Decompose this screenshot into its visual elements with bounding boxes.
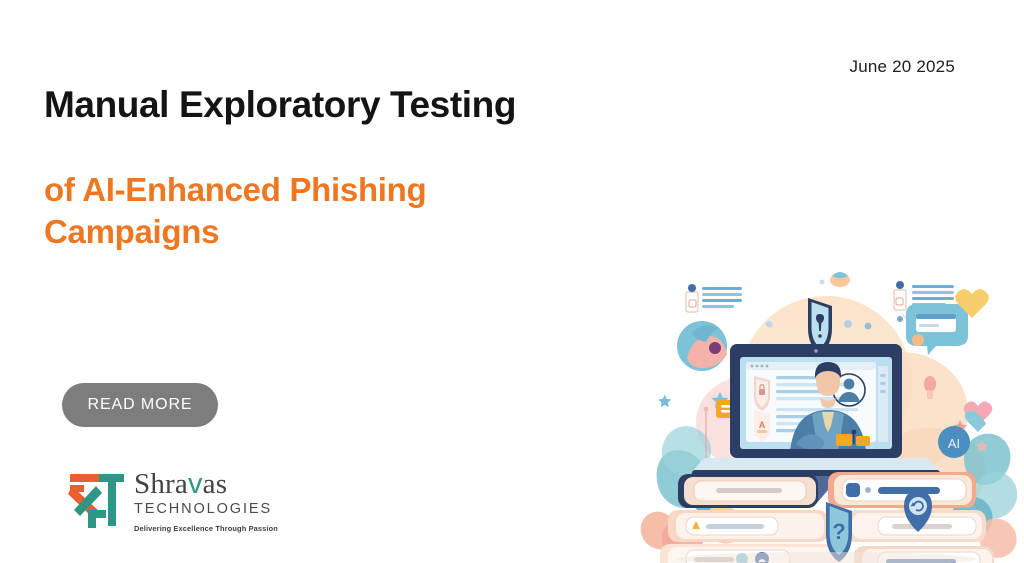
logo-text-block: Shravas TECHNOLOGIES Delivering Excellen… (134, 466, 278, 533)
logo-word-part-1: Shra (134, 468, 188, 500)
document-card-left (686, 284, 742, 312)
logo-word-part-2: as (203, 468, 228, 500)
read-more-button[interactable]: READ MORE (62, 383, 218, 427)
svg-text:?: ? (832, 519, 845, 544)
logo-check-icon: v (188, 468, 203, 500)
logo-tagline: Delivering Excellence Through Passion (134, 524, 278, 533)
chat-bubble-card (906, 304, 968, 355)
heart-icon-pink (964, 401, 993, 432)
hero-illustration: A (630, 262, 1024, 563)
logo-wordmark: Shravas (134, 470, 227, 499)
ai-badge: AI (938, 426, 970, 458)
search-bar-pill-left (716, 488, 782, 493)
svg-text:AI: AI (948, 436, 960, 451)
headline-block: Manual Exploratory Testing of AI-Enhance… (44, 84, 644, 253)
shravas-devanagari-mark-icon (66, 466, 128, 532)
page-title: Manual Exploratory Testing (44, 84, 644, 127)
logo-subtitle: TECHNOLOGIES (134, 501, 278, 517)
avatar-bubble-left (677, 321, 727, 371)
ai-phishing-security-illustration-svg: A (630, 262, 1024, 563)
page-subtitle: of AI-Enhanced Phishing Campaigns (44, 169, 514, 253)
shravas-logo[interactable]: Shravas TECHNOLOGIES Delivering Excellen… (66, 466, 278, 533)
slide-date: June 20 2025 (850, 57, 955, 77)
svg-text:A: A (759, 420, 766, 430)
